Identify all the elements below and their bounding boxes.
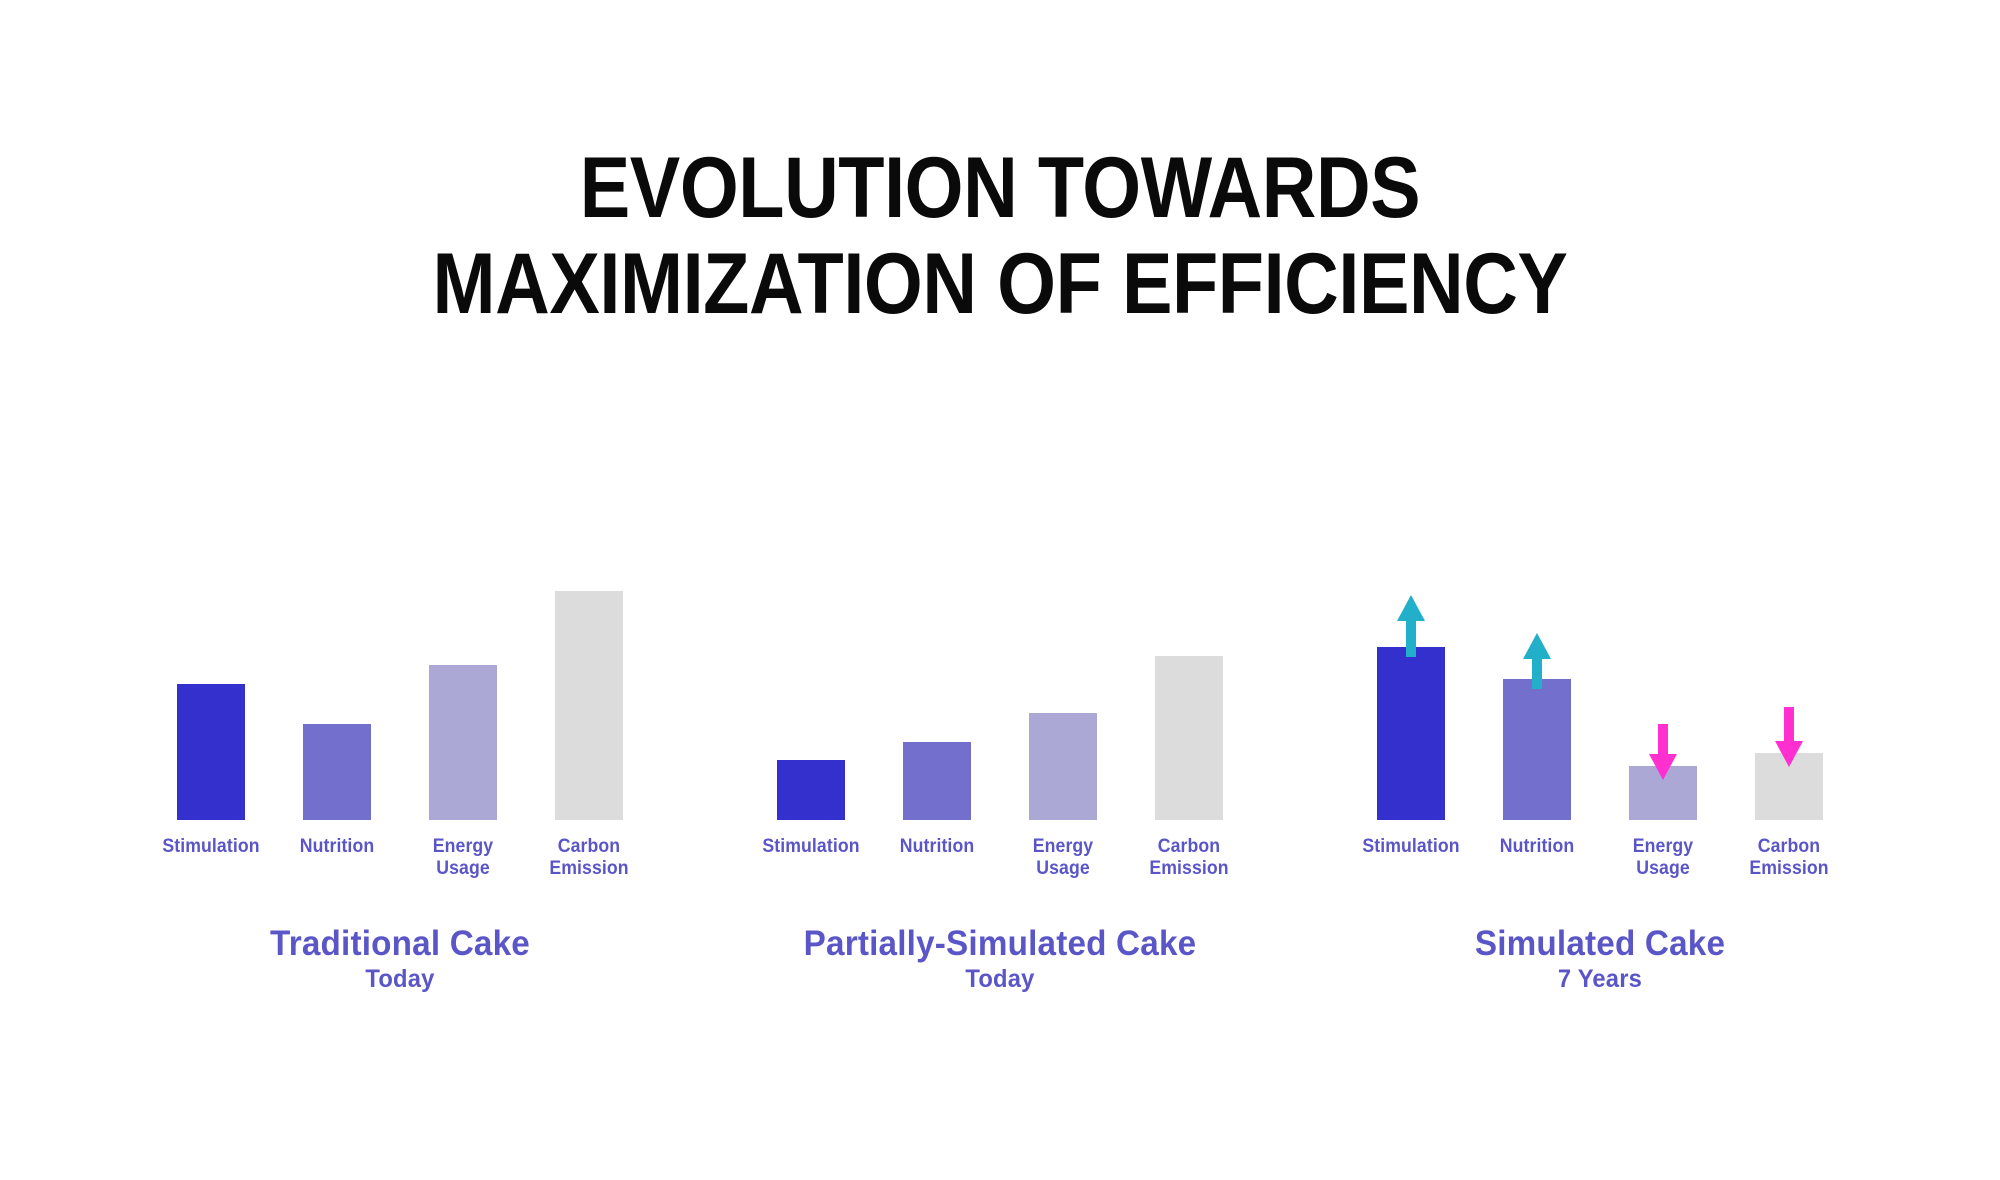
group-caption-subtitle: Today bbox=[115, 963, 685, 996]
bar-label-line-2: Usage bbox=[1012, 858, 1114, 880]
group-caption-title: Simulated Cake bbox=[1315, 924, 1885, 963]
bar-nutrition[interactable] bbox=[1503, 679, 1571, 820]
bar-nutrition[interactable] bbox=[303, 724, 371, 820]
bar-label-line-2: Emission bbox=[1738, 858, 1840, 880]
page-title: EVOLUTION TOWARDS MAXIMIZATION OF EFFICI… bbox=[0, 140, 2000, 333]
bar-label: EnergyUsage bbox=[1012, 836, 1114, 881]
page-title-line-1: EVOLUTION TOWARDS bbox=[120, 140, 1880, 236]
bar-group-partially-simulated-cake: StimulationNutritionEnergyUsageCarbonEmi… bbox=[700, 520, 1300, 1040]
bar-label: Stimulation bbox=[760, 836, 862, 858]
bar-energy[interactable] bbox=[429, 665, 497, 820]
bar-label-line-1: Carbon bbox=[1138, 836, 1240, 858]
bar-group-simulated-cake: StimulationNutritionEnergyUsageCarbonEmi… bbox=[1300, 520, 1900, 1040]
bar-slot: Nutrition bbox=[1482, 520, 1592, 820]
bar-label: EnergyUsage bbox=[1612, 836, 1714, 881]
bar-label-line-1: Energy bbox=[1612, 836, 1714, 858]
bar-label-line-1: Stimulation bbox=[760, 836, 862, 858]
bar-label-line-2: Emission bbox=[538, 858, 640, 880]
bar-label: CarbonEmission bbox=[1138, 836, 1240, 881]
group-caption-subtitle: 7 Years bbox=[1315, 963, 1885, 996]
bar-label-line-1: Nutrition bbox=[286, 836, 388, 858]
bar-label-line-2: Usage bbox=[412, 858, 514, 880]
bar-slot: Stimulation bbox=[756, 520, 866, 820]
bar-carbon[interactable] bbox=[1155, 656, 1223, 820]
bar-label-line-1: Energy bbox=[412, 836, 514, 858]
group-caption: Traditional CakeToday bbox=[100, 924, 700, 996]
bar-energy[interactable] bbox=[1029, 713, 1097, 820]
bar-slot: CarbonEmission bbox=[534, 520, 644, 820]
group-caption-title: Traditional Cake bbox=[115, 924, 685, 963]
bar-stimulation[interactable] bbox=[1377, 647, 1445, 820]
bar-slot: EnergyUsage bbox=[1008, 520, 1118, 820]
bar-label: Nutrition bbox=[286, 836, 388, 858]
bar-label-line-1: Stimulation bbox=[1360, 836, 1462, 858]
bar-label: Nutrition bbox=[1486, 836, 1588, 858]
bar-stimulation[interactable] bbox=[777, 760, 845, 820]
bar-slot: Nutrition bbox=[882, 520, 992, 820]
bar-label: Stimulation bbox=[1360, 836, 1462, 858]
plot-area: StimulationNutritionEnergyUsageCarbonEmi… bbox=[700, 520, 1300, 820]
bar-label: EnergyUsage bbox=[412, 836, 514, 881]
bar-slot: Stimulation bbox=[156, 520, 266, 820]
bar-stimulation[interactable] bbox=[177, 684, 245, 820]
bar-label-line-2: Emission bbox=[1138, 858, 1240, 880]
group-caption-subtitle: Today bbox=[715, 963, 1285, 996]
bar-label-line-1: Carbon bbox=[1738, 836, 1840, 858]
bar-label-line-1: Carbon bbox=[538, 836, 640, 858]
group-caption-title: Partially-Simulated Cake bbox=[715, 924, 1285, 963]
bar-label-line-1: Stimulation bbox=[160, 836, 262, 858]
plot-area: StimulationNutritionEnergyUsageCarbonEmi… bbox=[100, 520, 700, 820]
page-title-line-2: MAXIMIZATION OF EFFICIENCY bbox=[120, 236, 1880, 332]
bar-label: CarbonEmission bbox=[538, 836, 640, 881]
bar-label: Nutrition bbox=[886, 836, 988, 858]
bar-slot: Nutrition bbox=[282, 520, 392, 820]
bar-slot: EnergyUsage bbox=[408, 520, 518, 820]
bar-label-line-1: Nutrition bbox=[1486, 836, 1588, 858]
bar-slot: EnergyUsage bbox=[1608, 520, 1718, 820]
bar-slot: Stimulation bbox=[1356, 520, 1466, 820]
bar-label-line-1: Energy bbox=[1012, 836, 1114, 858]
bar-slot: CarbonEmission bbox=[1734, 520, 1844, 820]
bar-label: CarbonEmission bbox=[1738, 836, 1840, 881]
plot-area: StimulationNutritionEnergyUsageCarbonEmi… bbox=[1300, 520, 1900, 820]
bar-chart-container: StimulationNutritionEnergyUsageCarbonEmi… bbox=[0, 520, 2000, 1040]
bar-energy[interactable] bbox=[1629, 766, 1697, 820]
bar-carbon[interactable] bbox=[555, 591, 623, 820]
group-caption: Simulated Cake7 Years bbox=[1300, 924, 1900, 996]
bar-label-line-2: Usage bbox=[1612, 858, 1714, 880]
bar-group-traditional-cake: StimulationNutritionEnergyUsageCarbonEmi… bbox=[100, 520, 700, 1040]
bar-nutrition[interactable] bbox=[903, 742, 971, 820]
bar-label: Stimulation bbox=[160, 836, 262, 858]
group-caption: Partially-Simulated CakeToday bbox=[700, 924, 1300, 996]
bar-carbon[interactable] bbox=[1755, 753, 1823, 820]
bar-slot: CarbonEmission bbox=[1134, 520, 1244, 820]
bar-label-line-1: Nutrition bbox=[886, 836, 988, 858]
